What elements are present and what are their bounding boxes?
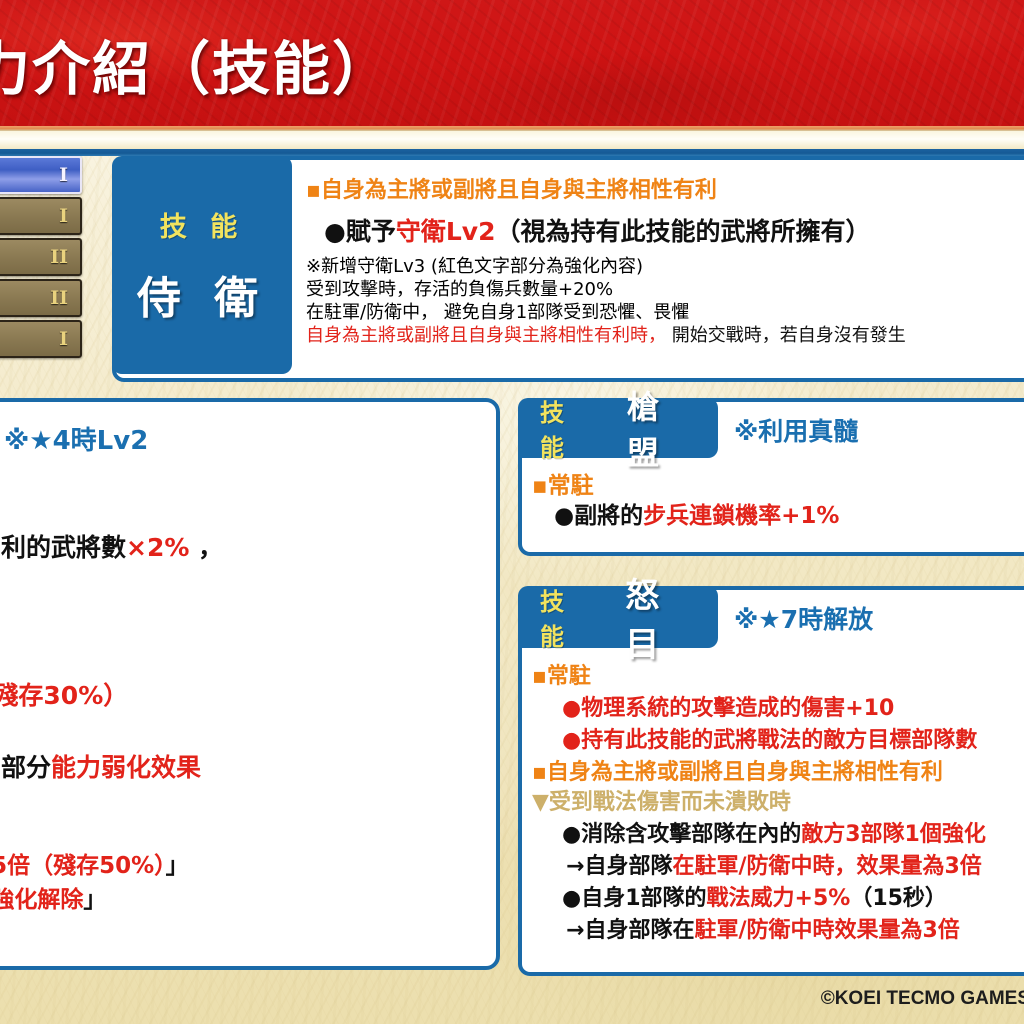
level-menu-item[interactable]: I — [0, 156, 82, 194]
r2-effect-3-plain: 消除含攻擊部隊在內的 — [581, 822, 801, 847]
effect-text-a: 賦予 — [346, 217, 396, 246]
r2-effect-3: ●消除含攻擊部隊在內的敵方3部隊1個強化 — [562, 816, 986, 848]
skill-card-qiangmeng: 技 能 槍 盟 ※利用真髓 ▪常駐 ●副將的步兵連鎖機率+1% — [518, 398, 1024, 556]
left-row-8: 法速度/戰法威力）與強化解除」 — [0, 880, 106, 914]
r2-effect-6: →自身部隊在駐軍/防衛中時效果量為3倍 — [566, 912, 960, 944]
left-row-3: 受到足以潰敗的傷害 — [0, 612, 1, 648]
skill-name-label: 槍 盟 — [627, 382, 718, 474]
row8-red: 法速度/戰法威力）與強化解除 — [0, 887, 83, 913]
skill-card-tab: 技 能 槍 盟 — [518, 398, 718, 458]
skill-card-content: ▪常駐 ●物理系統的攻擊造成的傷害+10 ●持有此技能的武將戰法的敵方目標部隊數… — [532, 658, 1024, 972]
r2-effect-5-red: 戰法威力+5% — [707, 886, 851, 911]
r2-heading-1-text: 常駐 — [547, 664, 591, 689]
level-numeral: I — [59, 328, 68, 350]
arrow-right-icon: → — [566, 918, 584, 943]
note-2-text: 受到攻擊時，存活的負傷兵數量+20% — [306, 279, 613, 300]
r2-effect-4-red: 在駐軍/防衛中時，效果量為3倍 — [672, 854, 981, 879]
r2-heading-1: ▪常駐 — [532, 658, 591, 690]
level-menu-item[interactable]: I — [0, 197, 82, 235]
r1-effect: ●副將的步兵連鎖機率+1% — [554, 496, 839, 530]
square-bullet-icon: ▪ — [532, 664, 547, 689]
r2-effect-2-text: 持有此技能的武將戰法的敵方目標部隊數 — [581, 728, 977, 753]
dot-bullet-icon: ● — [562, 728, 581, 753]
r2-effect-6-plain: 自身部隊在 — [584, 918, 694, 943]
row5-red: 3倍（殘存30%） — [0, 681, 128, 710]
skill-card-tab: 技 能 侍 衛 — [112, 156, 292, 374]
row1-tail: ， — [189, 533, 223, 562]
skill-card-shiwei: 技 能 侍 衛 ▪自身為主將或副將且自身與主將相性有利 ●賦予守衛Lv2（視為持… — [112, 156, 1024, 382]
r2-effect-5: ●自身1部隊的戰法威力+5%（15秒） — [562, 880, 947, 912]
row8-black: 」 — [83, 887, 106, 913]
level-menu-item[interactable]: II — [0, 279, 82, 317]
level-menu-strip[interactable]: I I II II I — [0, 156, 82, 361]
row7-black-c: 」 — [166, 853, 189, 879]
condition-text: 自身為主將或副將且自身與主將相性有利 — [321, 178, 717, 203]
unlock-note: ※★4時Lv2 — [4, 420, 148, 457]
row1-red: ×2% — [126, 533, 189, 562]
copyright-notice: ©KOEI TECMO GAMES — [821, 988, 1024, 1010]
dot-bullet-icon: ● — [324, 217, 346, 246]
skill-effect-line: ●賦予守衛Lv2（視為持有此技能的武將所擁有） — [324, 212, 870, 248]
effect-text-highlight: 守衛Lv2 — [396, 217, 496, 246]
r2-effect-1-text: 物理系統的攻擊造成的傷害+10 — [581, 696, 894, 721]
level-numeral: I — [59, 164, 68, 186]
level-numeral: II — [50, 287, 68, 309]
skill-card-numu: 技 能 怒 目 ※★7時解放 ▪常駐 ●物理系統的攻擊造成的傷害+10 ●持有此… — [518, 586, 1024, 976]
skill-note-4: 自身為主將或副將且自身與主將相性有利時， 開始交戰時，若自身沒有發生 — [306, 325, 906, 347]
r2-effect-6-red: 駐軍/防衛中時效果量為3倍 — [694, 918, 959, 943]
level-menu-item[interactable]: I — [0, 320, 82, 358]
square-bullet-icon: ▪ — [306, 178, 321, 203]
r1-effect-plain: 副將的 — [574, 503, 643, 529]
skill-card-tab: 技 能 怒 目 — [518, 586, 718, 648]
skill-card-content: ※★4時Lv2 輔佐）和自身相性有利的武將數×2% ， 與主將相性有利 受到足以… — [0, 398, 500, 970]
row7-red-c: 5倍（殘存50%） — [0, 853, 166, 879]
square-bullet-icon: ▪ — [532, 473, 548, 499]
r2-effect-4: →自身部隊在駐軍/防衛中時，效果量為3倍 — [566, 848, 982, 880]
effect-text-c: （視為持有此技能的武將所擁有） — [495, 217, 870, 246]
left-row-5: 中時效果量為3倍（殘存30%） — [0, 676, 128, 712]
r2-effect-5-plain-b: （15秒） — [850, 886, 947, 911]
skill-kind-label: 技 能 — [160, 205, 244, 244]
left-row-6: 隊的敵方部隊造成的部分能力弱化效果 — [0, 748, 201, 784]
note-4-black: 開始交戰時，若自身沒有發生 — [666, 325, 906, 346]
r2-effect-4-plain: 自身部隊 — [584, 854, 672, 879]
r1-heading: ▪常駐 — [532, 466, 594, 500]
skill-name-label: 怒 目 — [625, 568, 718, 666]
skill-note-3: 在駐軍/防衛中， 避免自身1部隊受到恐懼、畏懼 — [306, 302, 689, 324]
skill-kind-label: 技 能 — [540, 582, 607, 652]
r2-effect-2: ●持有此技能的武將戰法的敵方目標部隊數 — [562, 722, 977, 754]
r2-heading-2: ▪自身為主將或副將且自身與主將相性有利 — [532, 754, 943, 786]
level-numeral: II — [50, 246, 68, 268]
page-title: 力介紹（技能） — [0, 22, 392, 106]
dot-bullet-icon: ● — [562, 696, 581, 721]
left-row-7: % 」「兵力、攻擊」「5倍（殘存50%）」 — [0, 846, 189, 880]
row1-plain: 輔佐）和自身相性有利的武將數 — [0, 533, 126, 562]
r2-heading-3: ▼受到戰法傷害而未潰敗時 — [532, 784, 791, 816]
skill-name-label: 侍 衛 — [137, 262, 267, 326]
skill-note-1: ※新增守衛Lv3 (紅色文字部分為強化內容) — [306, 256, 643, 278]
r1-effect-red: 步兵連鎖機率+1% — [643, 503, 839, 529]
dot-bullet-icon: ● — [562, 822, 581, 847]
r2-heading-3-text: 受到戰法傷害而未潰敗時 — [549, 790, 791, 815]
skill-card-left-cropped: ※★4時Lv2 輔佐）和自身相性有利的武將數×2% ， 與主將相性有利 受到足以… — [0, 398, 500, 970]
r2-heading-2-text: 自身為主將或副將且自身與主將相性有利 — [547, 760, 943, 785]
row6-red: 能力弱化效果 — [51, 753, 201, 782]
row6-plain: 隊的敵方部隊造成的部分 — [0, 753, 51, 782]
note-4-red: 自身為主將或副將且自身與主將相性有利時， — [306, 325, 666, 346]
skill-kind-label: 技 能 — [540, 393, 609, 463]
r2-effect-5-plain-a: 自身1部隊的 — [581, 886, 706, 911]
r2-effect-1: ●物理系統的攻擊造成的傷害+10 — [562, 690, 894, 722]
skill-unlock-note: ※利用真髓 — [734, 412, 858, 448]
dot-bullet-icon: ● — [562, 886, 581, 911]
skill-unlock-note: ※★7時解放 — [734, 600, 873, 636]
left-row-1: 輔佐）和自身相性有利的武將數×2% ， — [0, 528, 223, 564]
level-menu-item[interactable]: II — [0, 238, 82, 276]
skill-note-2: 受到攻擊時，存活的負傷兵數量+20% — [306, 279, 613, 301]
skill-card-content: ▪常駐 ●副將的步兵連鎖機率+1% — [532, 466, 1024, 552]
skill-condition-line: ▪自身為主將或副將且自身與主將相性有利 — [306, 172, 717, 204]
triangle-icon: ▼ — [532, 790, 549, 815]
square-bullet-icon: ▪ — [532, 760, 547, 785]
r2-effect-3-red: 敵方3部隊1個強化 — [801, 822, 986, 847]
header-cream-strip — [0, 131, 1024, 149]
skill-card-content: ▪自身為主將或副將且自身與主將相性有利 ●賦予守衛Lv2（視為持有此技能的武將所… — [298, 164, 1024, 376]
level-numeral: I — [59, 205, 68, 227]
dot-bullet-icon: ● — [554, 503, 574, 529]
header-blue-divider — [0, 149, 1024, 156]
arrow-right-icon: → — [566, 854, 584, 879]
